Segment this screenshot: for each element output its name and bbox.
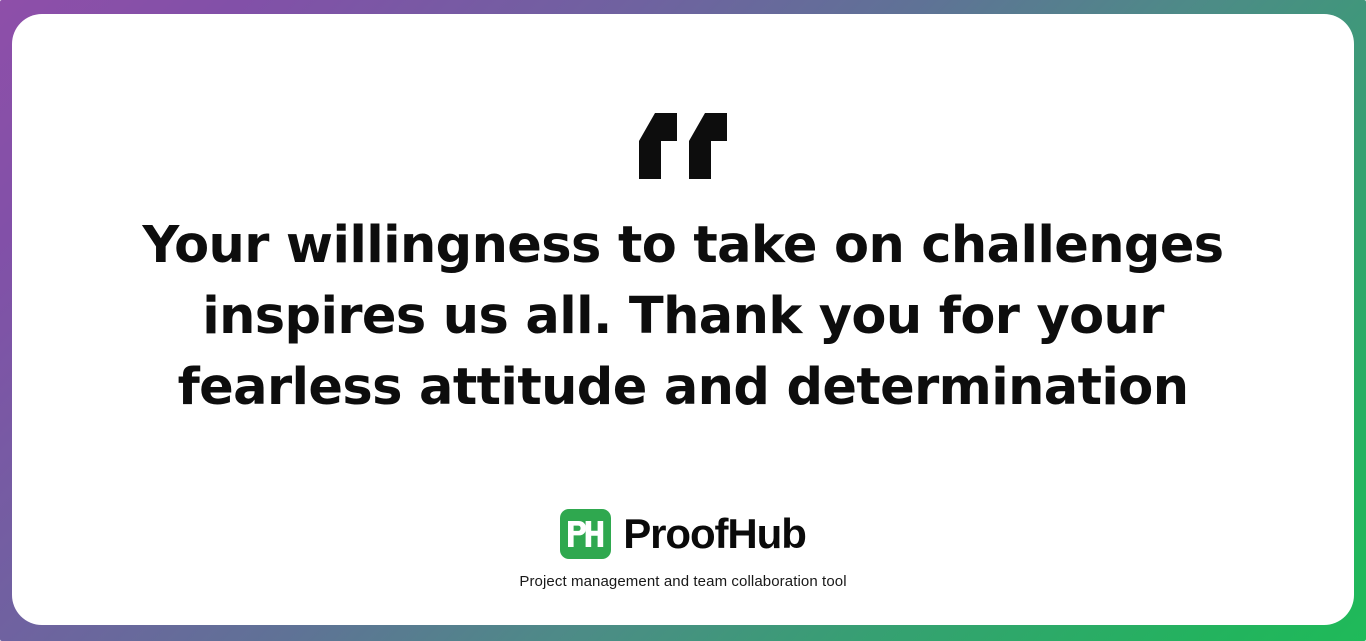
quote-text: Your willingness to take on challenges i… — [12, 210, 1354, 423]
proofhub-wordmark: ProofHub — [623, 513, 806, 555]
proofhub-logo[interactable]: ProofHub — [560, 508, 806, 560]
double-quote-open-icon — [639, 113, 727, 179]
quote-line-1: Your willingness to take on challenges — [112, 210, 1254, 281]
card-content-container: Your willingness to take on challenges i… — [12, 14, 1354, 625]
quote-line-2: inspires us all. Thank you for your — [112, 281, 1254, 352]
branding-block: ProofHub Project management and team col… — [12, 508, 1354, 590]
quote-line-3: fearless attitude and determination — [112, 352, 1254, 423]
white-quote-card: Your willingness to take on challenges i… — [12, 14, 1354, 625]
proofhub-tagline: Project management and team collaboratio… — [519, 573, 846, 590]
quote-card-canvas: Your willingness to take on challenges i… — [0, 0, 1366, 641]
proofhub-ph-monogram-icon — [560, 509, 611, 559]
